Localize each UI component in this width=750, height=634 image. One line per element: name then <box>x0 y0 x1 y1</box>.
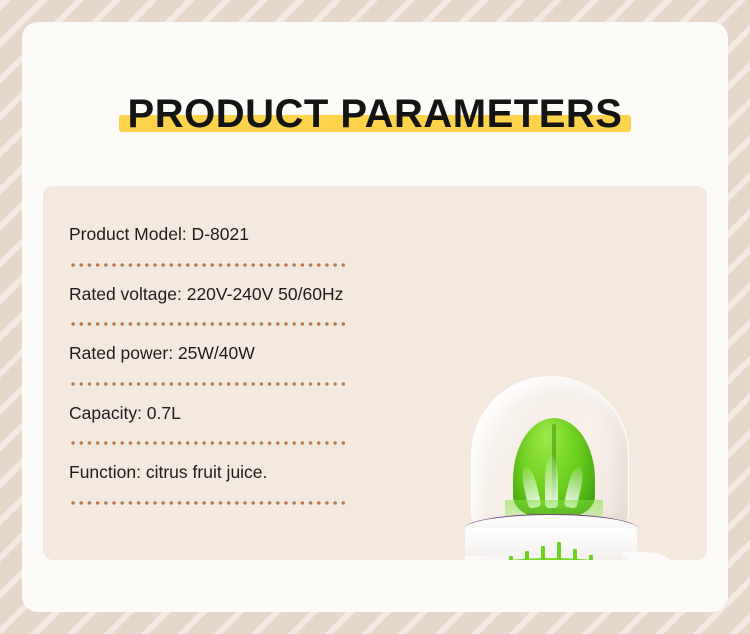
strainer-fin <box>509 556 513 560</box>
spec-row-rated-voltage: Rated voltage: 220V-240V 50/60Hz <box>69 286 371 327</box>
spec-row-function: Function: citrus fruit juice. <box>69 464 371 505</box>
page-title-text: PRODUCT PARAMETERS <box>128 92 623 136</box>
content-card: PRODUCT PARAMETERS Product Model: D-8021… <box>22 22 728 612</box>
spec-text-function: Function: citrus fruit juice. <box>69 464 371 501</box>
spec-text-capacity: Capacity: 0.7L <box>69 405 371 442</box>
page-title: PRODUCT PARAMETERS <box>22 92 728 137</box>
strainer-fin <box>525 551 529 560</box>
spec-panel: Product Model: D-8021 Rated voltage: 220… <box>43 186 707 560</box>
spec-row-product-model: Product Model: D-8021 <box>69 226 371 267</box>
spec-text-rated-voltage: Rated voltage: 220V-240V 50/60Hz <box>69 286 371 323</box>
spec-divider-2 <box>69 322 349 326</box>
strainer-fin <box>557 542 561 560</box>
spec-row-capacity: Capacity: 0.7L <box>69 405 371 446</box>
spec-text-rated-power: Rated power: 25W/40W <box>69 345 371 382</box>
spec-text-product-model: Product Model: D-8021 <box>69 226 371 263</box>
page-background: PRODUCT PARAMETERS Product Model: D-8021… <box>0 0 750 634</box>
strainer-fin <box>541 546 545 560</box>
spec-divider-1 <box>69 263 349 267</box>
spec-divider-3 <box>69 382 349 386</box>
strainer-fin <box>589 555 593 560</box>
spec-row-rated-power: Rated power: 25W/40W <box>69 345 371 386</box>
spec-list: Product Model: D-8021 Rated voltage: 220… <box>69 226 371 524</box>
strainer-fin <box>573 549 577 560</box>
spec-divider-5 <box>69 501 349 505</box>
spec-divider-4 <box>69 441 349 445</box>
juicer-handle <box>621 552 687 560</box>
juicer-strainer-disc <box>495 558 607 560</box>
product-image-citrus-juicer <box>421 362 707 560</box>
